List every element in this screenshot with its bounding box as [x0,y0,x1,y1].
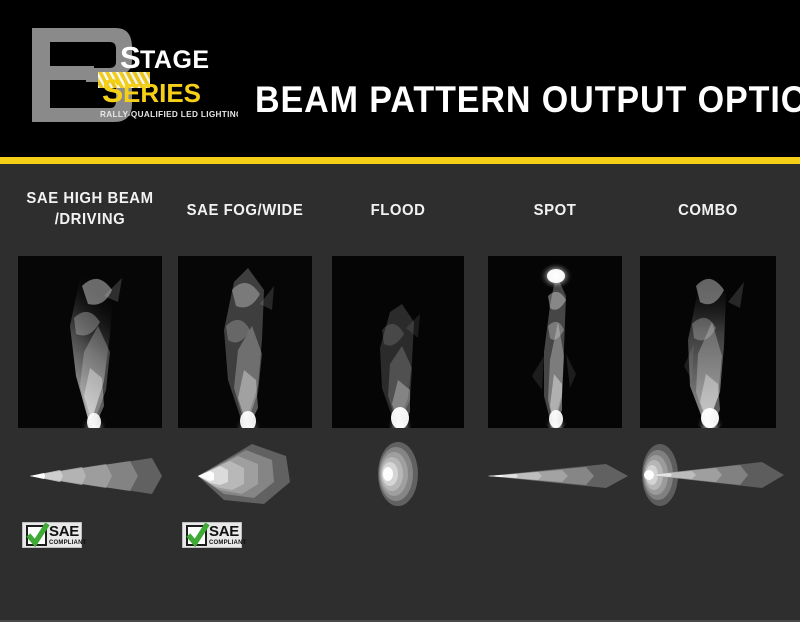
beam-diagram [632,442,784,508]
svg-text:ERIES: ERIES [123,78,201,108]
sae-compliant-badge: SAE COMPLIANT [22,522,82,548]
column-spot: SPOT [488,164,622,620]
sae-badge-subtitle: COMPLIANT [49,540,86,546]
column-sae-high-beam-driving: SAE HIGH BEAM /DRIVING [18,164,162,620]
checkmark-icon [26,525,47,546]
brand-logo: S TAGE S ERIES RALLY-QUALIFIED LED LIGHT… [28,22,238,130]
page-title: BEAM PATTERN OUTPUT OPTIONS [255,78,747,122]
beam-diagram [18,448,162,504]
logo-tagline: RALLY-QUALIFIED LED LIGHTING [100,110,238,119]
beam-photo [488,256,622,428]
column-label: SPOT [483,200,626,221]
sae-compliant-badge: SAE COMPLIANT [182,522,242,548]
checkmark-icon [186,525,207,546]
column-sae-fog-wide: SAE FOG/WIDE [178,164,312,620]
beam-photo [18,256,162,428]
svg-text:S: S [102,73,123,109]
accent-divider [0,157,800,164]
svg-text:TAGE: TAGE [140,46,210,74]
content-area: SAE HIGH BEAM /DRIVING [0,164,800,620]
beam-photo [640,256,776,428]
beam-diagram [482,456,628,496]
logo-word-stage: S TAGE [120,40,210,75]
sae-badge-subtitle: COMPLIANT [209,540,246,546]
column-label: FLOOD [327,200,468,221]
column-combo: COMBO [640,164,776,620]
header-bar: S TAGE S ERIES RALLY-QUALIFIED LED LIGHT… [0,0,800,157]
beam-photo [178,256,312,428]
column-label: COMBO [635,200,780,221]
logo-word-series: S ERIES [98,72,201,109]
beam-photo [332,256,464,428]
beam-diagram [190,442,312,506]
beam-pattern-infographic: S TAGE S ERIES RALLY-QUALIFIED LED LIGHT… [0,0,800,622]
column-label: SAE FOG/WIDE [173,200,316,221]
sae-badge-title: SAE [209,524,246,539]
beam-diagram [368,440,428,508]
column-flood: FLOOD [332,164,464,620]
column-label: SAE HIGH BEAM /DRIVING [12,188,168,230]
sae-badge-title: SAE [49,524,86,539]
svg-text:S: S [120,40,141,75]
